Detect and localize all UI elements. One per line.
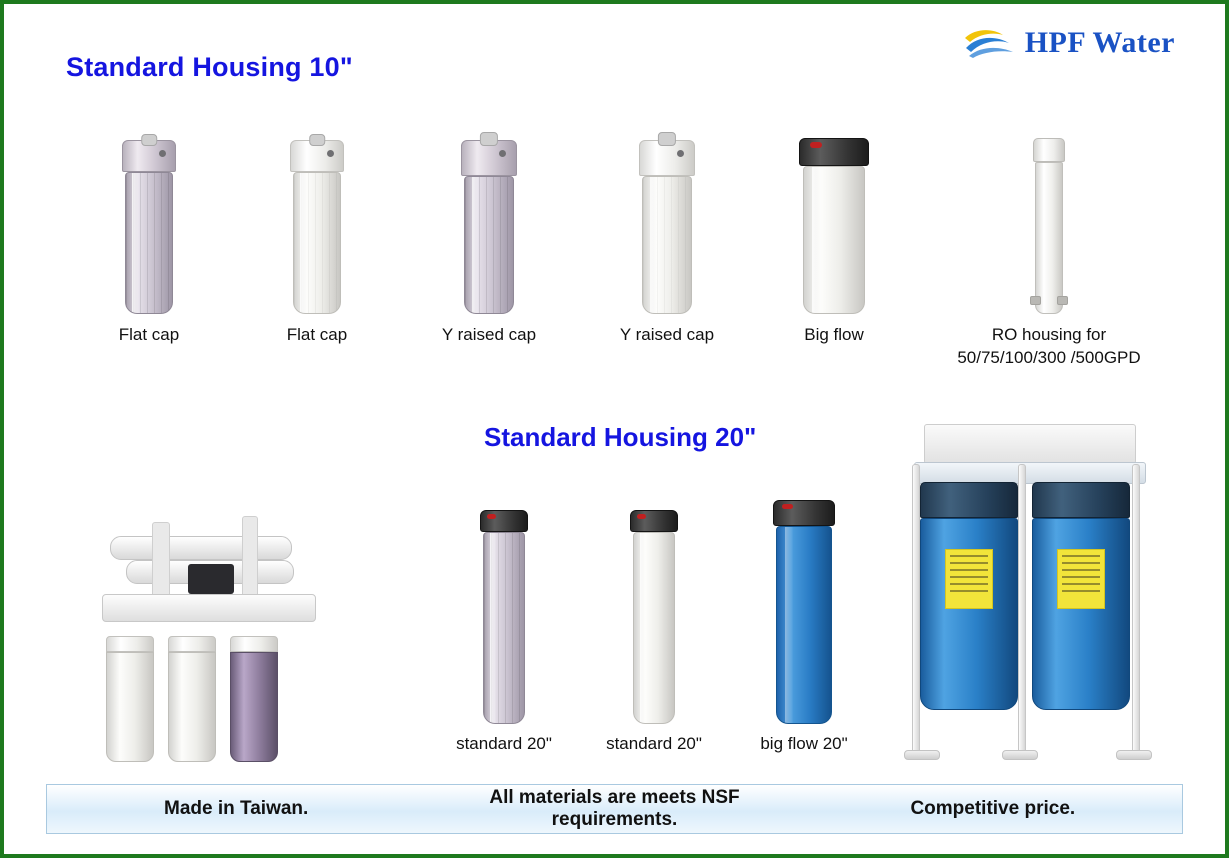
rack-foot-icon [904, 750, 940, 760]
footer-item-price: Competitive price. [804, 798, 1182, 820]
product-image-ro-housing [924, 114, 1174, 314]
product-caption: Flat cap [74, 324, 224, 347]
rack-manifold-icon [914, 462, 1146, 484]
mounting-bracket-icon [102, 594, 316, 622]
pressure-button-icon [637, 514, 646, 519]
product-big-flow-20: big flow 20" [714, 474, 894, 754]
product-caption: big flow 20" [714, 734, 894, 754]
pump-icon [188, 564, 234, 594]
section-title-10: Standard Housing 10" [66, 52, 353, 83]
cap-knob-icon [141, 134, 157, 146]
cap-knob-icon [658, 132, 676, 146]
product-image-ro-system [92, 502, 342, 762]
product-image-big-blue-rack [904, 424, 1154, 794]
product-image-y-raised-cap-white [582, 114, 752, 314]
pressure-button-icon [487, 514, 496, 519]
rack-foot-icon [1002, 750, 1038, 760]
tubing-icon [152, 522, 170, 602]
ro-cap-icon [1033, 138, 1065, 162]
bb-cap-icon [1032, 482, 1130, 518]
product-y-raised-cap-white: Y raised cap [582, 114, 752, 347]
footer-item-nsf: All materials are meets NSF requirements… [425, 787, 803, 831]
ro-inlet-port-icon [1030, 296, 1041, 305]
cap-knob-icon [309, 134, 325, 146]
product-row-10: Flat cap Flat cap [64, 114, 1174, 384]
product-y-raised-cap-clear: Y raised cap [404, 114, 574, 347]
product-caption: Big flow [754, 324, 914, 347]
rack-leg-icon [1132, 464, 1140, 756]
mini-cap-icon [168, 636, 216, 652]
product-image-big-flow-20 [714, 474, 894, 724]
cap-port-icon [499, 150, 506, 157]
footer-bar: Made in Taiwan. All materials are meets … [46, 784, 1183, 834]
cap-port-icon [327, 150, 334, 157]
stage-housing-white [106, 636, 154, 762]
product-big-flow: Big flow [754, 114, 914, 347]
warning-label-icon [1057, 549, 1105, 609]
pressure-button-icon [782, 504, 793, 509]
big-blue-housing-left [920, 482, 1018, 710]
product-caption: Flat cap [242, 324, 392, 347]
membrane-housing-icon [110, 536, 292, 560]
product-image-flat-cap-clear [74, 114, 224, 314]
ro-outlet-port-icon [1057, 296, 1068, 305]
mini-cap-icon [230, 636, 278, 652]
cap-port-icon [677, 150, 684, 157]
bb-cap-icon [920, 482, 1018, 518]
brand-name: HPF Water [1025, 26, 1175, 60]
mini-cap-icon [106, 636, 154, 652]
rack-foot-icon [1116, 750, 1152, 760]
rack-top-plate-icon [924, 424, 1136, 464]
product-image-flat-cap-white [242, 114, 392, 314]
section-title-20: Standard Housing 20" [484, 422, 756, 453]
product-image-y-raised-cap-clear [404, 114, 574, 314]
product-image-big-flow [754, 114, 914, 314]
product-caption: Y raised cap [582, 324, 752, 347]
product-flat-cap-clear: Flat cap [74, 114, 224, 347]
big-blue-housing-right [1032, 482, 1130, 710]
cap-port-icon [159, 150, 166, 157]
product-sheet-page: HPF Water Standard Housing 10" Flat cap [0, 0, 1229, 858]
tubing-icon [242, 516, 258, 600]
stage-housing-white [168, 636, 216, 762]
footer-item-made-in-taiwan: Made in Taiwan. [47, 798, 425, 820]
product-row-20: standard 20" standard 20" [64, 474, 1174, 804]
product-ro-housing: RO housing for 50/75/100/300 /500GPD [924, 114, 1174, 370]
cap-knob-icon [480, 132, 498, 146]
rack-leg-icon [1018, 464, 1026, 756]
stage-housing-clear [230, 636, 278, 762]
product-caption: RO housing for 50/75/100/300 /500GPD [924, 324, 1174, 370]
wave-logo-icon [963, 26, 1019, 60]
rack-leg-icon [912, 464, 920, 756]
pressure-button-icon [810, 142, 822, 148]
brand-logo: HPF Water [963, 26, 1175, 60]
product-flat-cap-white: Flat cap [242, 114, 392, 347]
warning-label-icon [945, 549, 993, 609]
product-caption: Y raised cap [404, 324, 574, 347]
